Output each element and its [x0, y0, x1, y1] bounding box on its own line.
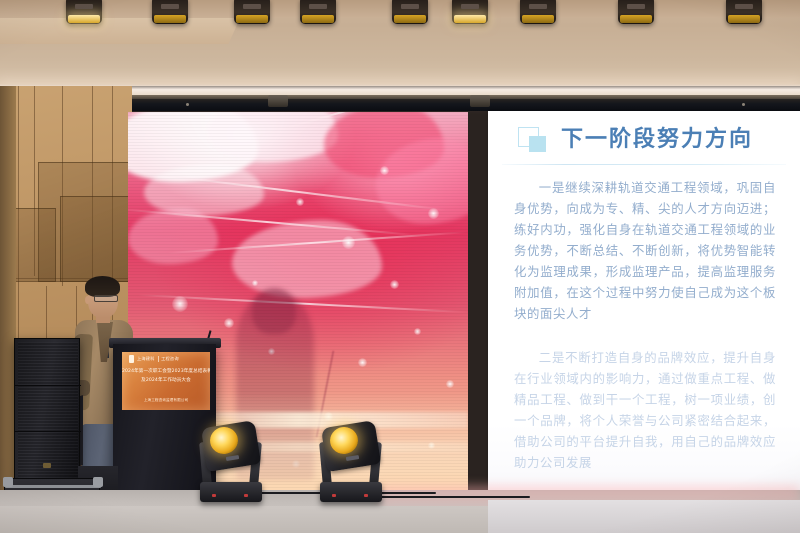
glasses-icon: [94, 295, 118, 302]
presenter-hair: [85, 276, 120, 297]
slide-title: 下一阶段努力方向: [561, 129, 753, 151]
ceiling-spotlight-icon: [520, 0, 556, 24]
slide-title-row: 下一阶段努力方向: [518, 127, 753, 153]
ceiling-recess: [0, 18, 240, 44]
podium-brand-left: 上海建科: [137, 356, 155, 362]
moving-head-light-left: [196, 420, 266, 502]
slide-paragraph-1: 一是继续深耕轨道交通工程领域，巩固自身优势，向成为专、精、尖的人才方向迈进；练好…: [514, 177, 776, 324]
light-status-led: [364, 494, 368, 497]
light-base: [200, 482, 262, 502]
truss-bolt: [742, 103, 745, 106]
truss-clamp: [268, 95, 288, 107]
podium-sign: 上海建科 工程咨询 2024年第一次职工会暨2023年度总结表彰 及2024年工…: [122, 352, 210, 410]
light-status-led: [212, 494, 216, 497]
ceiling-spotlight-icon: [452, 0, 488, 24]
line-array-speaker: [14, 338, 80, 482]
ceiling-spotlight-icon: [234, 0, 270, 24]
podium-brand-divider: [158, 356, 159, 362]
slide-paragraph-2: 二是不断打造自身的品牌效应，提升自身在行业领域内的影响力，通过做重点工程、做精品…: [514, 347, 776, 473]
light-status-led: [332, 494, 336, 497]
ceiling-spotlight-icon: [300, 0, 336, 24]
podium-sign-logo-row: 上海建科 工程咨询: [129, 355, 179, 363]
ceiling-spotlight-icon: [618, 0, 654, 24]
conference-stage-photo: 下一阶段努力方向 一是继续深耕轨道交通工程领域，巩固自身优势，向成为专、精、尖的…: [0, 0, 800, 533]
speaker-grill: [18, 342, 78, 480]
ceiling-spotlight-icon: [392, 0, 428, 24]
light-base: [320, 482, 382, 502]
ceiling-spotlight-icon: [726, 0, 762, 24]
truss-bolt: [186, 103, 189, 106]
podium-sign-line-1: 2024年第一次职工会暨2023年度总结表彰: [122, 368, 210, 374]
moving-head-light-right: [316, 420, 386, 502]
truss-clamp: [470, 95, 490, 107]
square-accent-icon: [518, 127, 548, 153]
projection-screen: 下一阶段努力方向 一是继续深耕轨道交通工程领域，巩固自身优势，向成为专、精、尖的…: [488, 111, 800, 511]
lower-right-floor: [488, 500, 800, 533]
ceiling-spotlight-icon: [66, 0, 102, 24]
speaker-badge: [43, 463, 51, 468]
company-logo-icon: [129, 355, 134, 363]
ceiling-spotlight-icon: [152, 0, 188, 24]
podium-sign-line-2: 及2024年工作动员大会: [122, 377, 210, 383]
podium-sign-line-3: 上海工程咨询监理有限公司: [122, 398, 210, 403]
presenter-ear: [85, 296, 90, 304]
podium-brand-right: 工程咨询: [161, 356, 179, 362]
slide-title-divider: [502, 164, 786, 165]
light-status-led: [244, 494, 248, 497]
slide: 下一阶段努力方向 一是继续深耕轨道交通工程领域，巩固自身优势，向成为专、精、尖的…: [488, 111, 800, 511]
